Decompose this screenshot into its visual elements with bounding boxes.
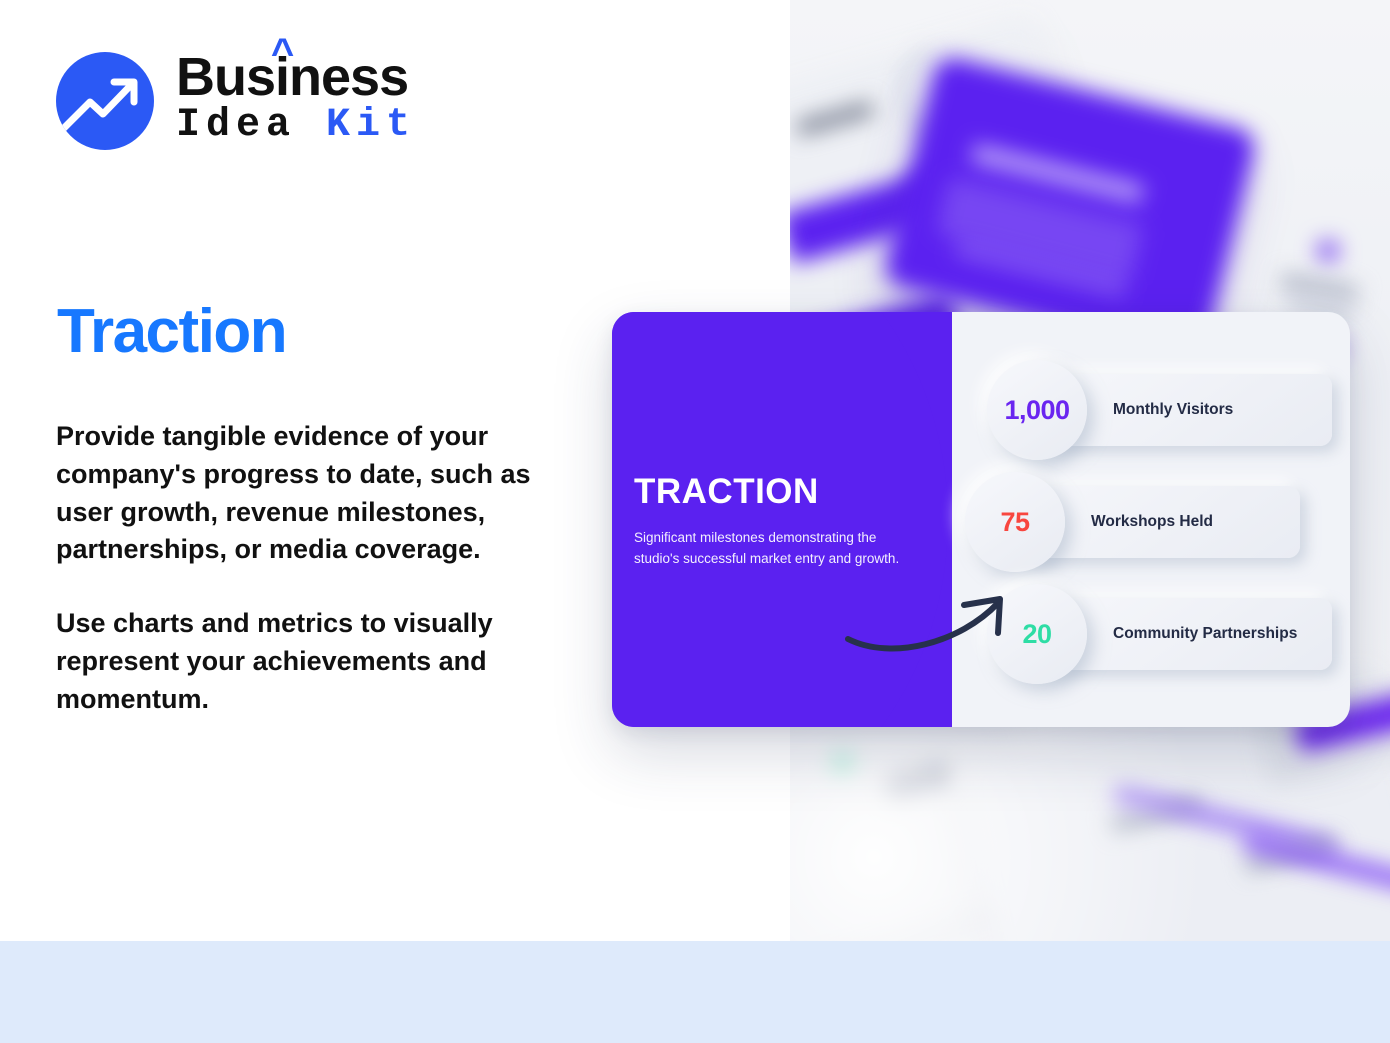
brand-logo: Bus^iness Idea Kit: [56, 52, 416, 150]
slide-page: Bus^iness Idea Kit Traction Provide tang…: [0, 0, 1390, 1043]
trend-up-circle-icon: [56, 52, 154, 150]
circumflex-accent-icon: ^: [271, 33, 293, 73]
brand-business-i: ^i: [275, 47, 289, 107]
metric-label: Community Partnerships: [1113, 624, 1297, 643]
curved-arrow-up-right-icon: [842, 587, 1022, 657]
description-block: Provide tangible evidence of your compan…: [56, 418, 576, 719]
metric-row[interactable]: Monthly Visitors 1,000: [987, 360, 1332, 460]
brand-idea-text: Idea: [176, 103, 296, 148]
metric-value: 75: [1000, 507, 1029, 538]
description-paragraph-2: Use charts and metrics to visually repre…: [56, 605, 576, 718]
brand-name-business: Bus^iness: [176, 51, 416, 104]
bg-dot: [1317, 240, 1339, 262]
bottom-accent-band: [0, 941, 1390, 1043]
slide-subtitle: Significant milestones demonstrating the…: [634, 528, 924, 570]
description-paragraph-1: Provide tangible evidence of your compan…: [56, 418, 576, 569]
metric-value: 1,000: [1004, 395, 1069, 426]
slide-title: TRACTION: [634, 472, 924, 512]
metric-row[interactable]: Community Partnerships 20: [987, 584, 1332, 684]
brand-business-prefix: Bus: [176, 47, 275, 107]
brand-name-ideakit: Idea Kit: [176, 105, 416, 147]
metric-value-circle: 1,000: [987, 360, 1087, 460]
brand-kit-text: Kit: [326, 103, 416, 148]
metric-label: Workshops Held: [1091, 512, 1213, 531]
slide-heading-block: TRACTION Significant milestones demonstr…: [634, 472, 924, 570]
brand-business-suffix: ness: [289, 47, 408, 107]
metric-value: 20: [1022, 619, 1051, 650]
metric-label: Monthly Visitors: [1113, 400, 1233, 419]
metrics-list: Monthly Visitors 1,000 Workshops Held 75…: [987, 360, 1332, 684]
brand-wordmark: Bus^iness Idea Kit: [176, 51, 416, 148]
slide-preview-card[interactable]: TRACTION Significant milestones demonstr…: [612, 312, 1350, 727]
page-title: Traction: [57, 296, 286, 367]
metric-value-circle: 75: [965, 472, 1065, 572]
metric-row[interactable]: Workshops Held 75: [987, 472, 1332, 572]
